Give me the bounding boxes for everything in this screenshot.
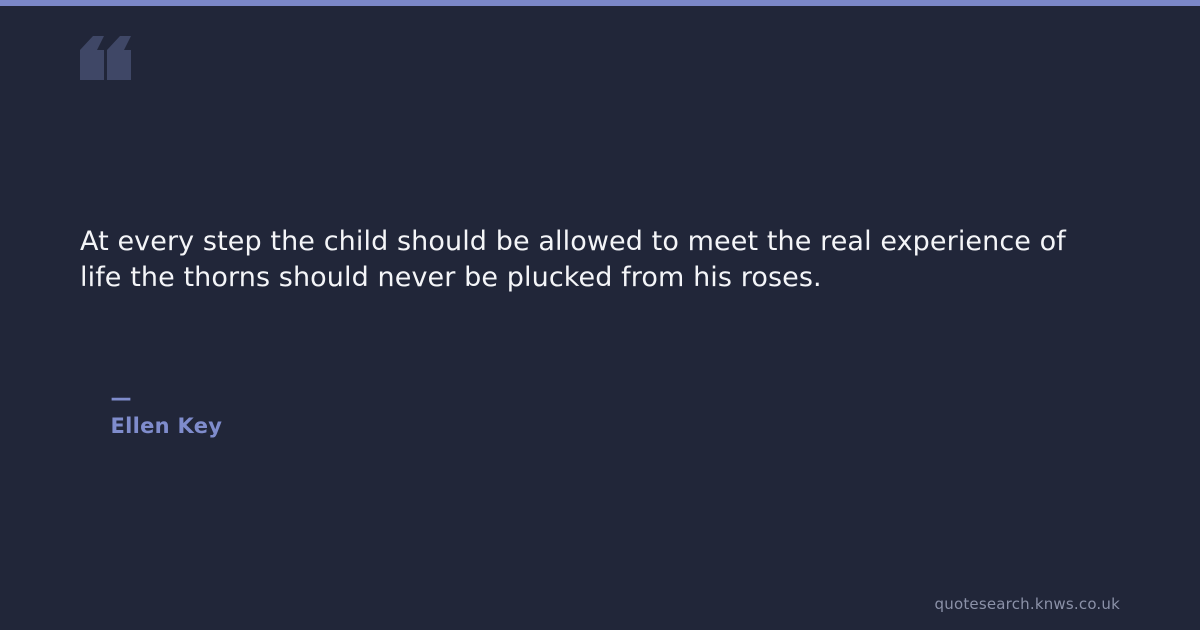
attribution-dash: — [110,386,131,410]
quote-card: At every step the child should be allowe… [0,0,1200,630]
site-watermark: quotesearch.knws.co.uk [935,594,1120,614]
quote-block: At every step the child should be allowe… [80,224,1120,296]
top-accent-bar [0,0,1200,6]
quote-text: At every step the child should be allowe… [80,224,1090,296]
double-quote-open-icon [80,36,132,80]
quote-attribution: — Ellen Key [80,356,222,468]
attribution-author: Ellen Key [110,414,222,438]
